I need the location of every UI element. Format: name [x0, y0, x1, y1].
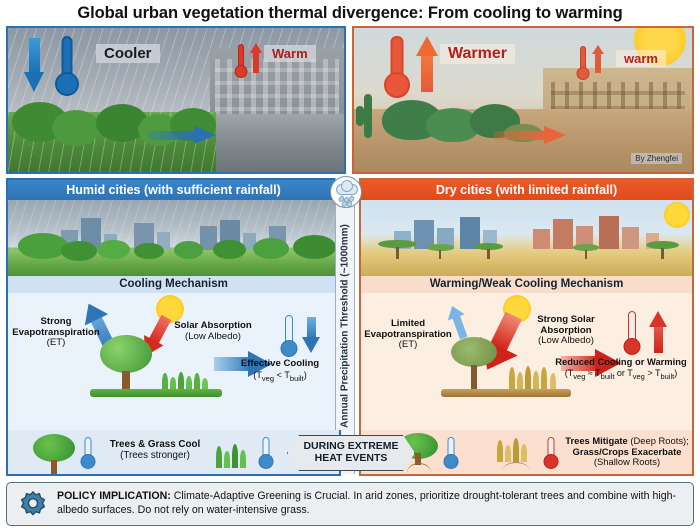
dry-heat-label: Trees Mitigate (Deep Roots); Grass/Crops…	[561, 436, 693, 468]
policy-label: POLICY IMPLICATION:	[57, 490, 171, 502]
red-thermometer-icon	[576, 46, 590, 80]
solar-absorption-title: Strong Solar	[537, 314, 595, 325]
effective-cooling-title: Effective Cooling	[241, 358, 319, 369]
down-arrow-icon	[24, 38, 44, 94]
orange-arrow-icon	[494, 126, 570, 144]
page-title: Global urban vegetation thermal divergen…	[0, 0, 700, 26]
up-arrow-icon	[649, 311, 667, 353]
cooling-formula: (Tveg < Tbuilt)	[253, 370, 307, 380]
shallow-roots	[503, 462, 529, 470]
strong-et-label: Strong Evapotranspiration (ET)	[10, 317, 102, 349]
acacia-tree	[378, 240, 418, 260]
limited-et-label: Limited Evapotranspiration (ET)	[361, 319, 455, 351]
dry-photo-panel: Warmer warm By Zhengfei	[352, 26, 694, 174]
ground-strip	[90, 389, 222, 397]
et-abbrev: (ET)	[47, 337, 66, 348]
trees-stronger-note: (Trees stronger)	[120, 450, 190, 461]
acacia-tree	[646, 241, 679, 259]
red-thermometer-icon	[384, 36, 410, 98]
trees-grass-cool-title: Trees & Grass Cool	[110, 439, 200, 450]
shallow-root-grass-icon	[495, 436, 539, 470]
top-photo-row: Cooler Warm	[6, 26, 694, 174]
infographic-page: Global urban vegetation thermal divergen…	[0, 0, 700, 531]
solar-albedo-note: (Low Albedo)	[538, 335, 594, 346]
effective-cooling-label: Effective Cooling (Tveg < Tbuilt)	[222, 359, 338, 383]
green-grass-icon	[214, 442, 254, 468]
cooler-label: Cooler	[96, 44, 160, 63]
gear-icon	[19, 491, 47, 519]
policy-text: POLICY IMPLICATION: Climate-Adaptive Gre…	[57, 489, 685, 518]
sun-icon	[664, 202, 690, 228]
strong-solar-absorption-label: Strong Solar Absorption (Low Albedo)	[513, 315, 619, 347]
et-strength: Strong	[41, 316, 72, 327]
red-thermometer-icon	[623, 311, 641, 355]
healthy-tree	[94, 335, 158, 391]
red-thermometer-icon	[234, 44, 248, 78]
cooling-mechanism-header: Cooling Mechanism	[8, 276, 339, 293]
humid-city-scene	[8, 200, 339, 276]
acacia-tree	[427, 244, 453, 259]
deep-roots-note: (Deep Roots);	[628, 435, 689, 446]
et-abbrev: (ET)	[399, 339, 418, 350]
sparse-dry-tree	[445, 337, 503, 391]
during-extreme-heat-events-chip: DURING EXTREME HEAT EVENTS	[287, 435, 415, 471]
solar-albedo-note: (Low Albedo)	[185, 331, 241, 342]
up-arrow-icon	[250, 43, 262, 73]
shallow-roots-note: (Shallow Roots)	[594, 456, 660, 467]
blue-thermometer-icon	[80, 437, 96, 469]
green-tree-icon	[30, 434, 78, 474]
up-arrow-icon	[592, 45, 604, 73]
cactus-arm	[356, 106, 364, 126]
blue-thermometer-icon	[56, 36, 78, 96]
policy-implication-box: POLICY IMPLICATION: Climate-Adaptive Gre…	[6, 482, 694, 526]
blue-thermometer-icon	[443, 437, 459, 469]
up-arrow-icon	[416, 36, 438, 92]
et-word: Evapotranspiration	[12, 327, 99, 338]
heat-chip-line1: DURING EXTREME	[303, 440, 398, 452]
author-credit: By Zhengfei	[631, 153, 682, 164]
et-word: Evapotranspiration	[364, 329, 451, 340]
humid-photo-panel: Cooler Warm	[6, 26, 346, 174]
solar-absorption-title: Solar Absorption	[174, 320, 251, 331]
rain-cloud-icon	[330, 176, 362, 208]
reduced-cooling-label: Reduced Cooling or Warming (Tveg ≈ Tbuil…	[547, 357, 694, 381]
scene-tree	[293, 235, 336, 259]
warm-label: warm	[616, 50, 666, 67]
precipitation-threshold-label: Annual Precipitation Threshold (~1000mm)	[340, 224, 351, 428]
acacia-tree	[474, 243, 504, 260]
acacia-tree	[573, 244, 599, 259]
reduced-cooling-title: Reduced Cooling or Warming	[555, 356, 686, 367]
et-strength: Limited	[391, 318, 425, 329]
humid-heat-label: Trees & Grass Cool (Trees stronger)	[100, 440, 210, 462]
ground-strip	[441, 389, 571, 397]
park-tree	[52, 110, 100, 146]
warming-mechanism-header: Warming/Weak Cooling Mechanism	[361, 276, 692, 293]
warm-label: Warm	[264, 45, 316, 62]
green-grass-patch	[160, 371, 216, 391]
trees-mitigate-title: Trees Mitigate	[565, 435, 628, 446]
red-thermometer-icon	[543, 437, 559, 469]
blue-thermometer-icon	[280, 315, 298, 357]
warmer-label: Warmer	[440, 44, 515, 64]
warming-formula: (Tveg ≈ Tbuilt or Tveg > Tbuilt)	[565, 368, 677, 378]
scene-tree	[134, 243, 164, 260]
dry-column-header: Dry cities (with limited rainfall)	[361, 180, 692, 200]
dry-city-scene	[361, 200, 692, 276]
grass-crops-exacerbate-title: Grass/Crops Exacerbate	[573, 446, 682, 457]
scene-tree	[61, 241, 97, 261]
down-arrow-icon	[302, 317, 320, 355]
cactus-plant	[364, 94, 372, 138]
scene-tree	[18, 233, 68, 259]
wet-road	[203, 114, 344, 172]
solar-absorption-title2: Absorption	[540, 325, 591, 336]
humid-column-header: Humid cities (with sufficient rainfall)	[8, 180, 339, 200]
heat-chip-line2: HEAT EVENTS	[315, 452, 388, 464]
blue-arrow-icon	[148, 126, 218, 144]
deep-roots	[407, 463, 431, 473]
blue-thermometer-icon	[258, 437, 274, 469]
solar-absorption-label: Solar Absorption (Low Albedo)	[158, 321, 268, 342]
